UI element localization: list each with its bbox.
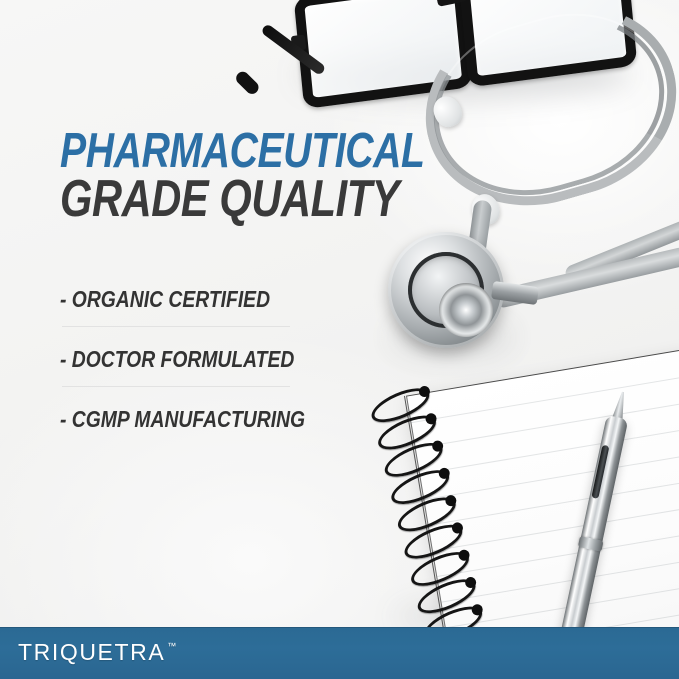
brand-logo: TRIQUETRA ™ — [18, 639, 176, 666]
list-item: - CGMP MANUFACTURING — [60, 402, 296, 450]
feature-label: - CGMP MANUFACTURING — [60, 402, 258, 436]
list-item: - ORGANIC CERTIFIED — [60, 282, 296, 330]
headline-line-1: PHARMACEUTICAL — [60, 128, 425, 174]
marketing-copy: PHARMACEUTICAL GRADE QUALITY - ORGANIC C… — [0, 0, 679, 679]
trademark-symbol: ™ — [167, 642, 176, 651]
feature-label: - DOCTOR FORMULATED — [60, 342, 258, 376]
page-title: PHARMACEUTICAL GRADE QUALITY — [60, 128, 516, 222]
feature-divider — [62, 386, 290, 387]
feature-divider — [62, 326, 290, 327]
feature-label: - ORGANIC CERTIFIED — [60, 282, 258, 316]
product-marketing-image: PHARMACEUTICAL GRADE QUALITY - ORGANIC C… — [0, 0, 679, 679]
list-item: - DOCTOR FORMULATED — [60, 342, 296, 390]
brand-name: TRIQUETRA — [18, 639, 165, 666]
headline-line-2: GRADE QUALITY — [60, 176, 425, 222]
feature-list: - ORGANIC CERTIFIED - DOCTOR FORMULATED … — [60, 282, 296, 450]
brand-footer-bar: TRIQUETRA ™ — [0, 627, 679, 679]
